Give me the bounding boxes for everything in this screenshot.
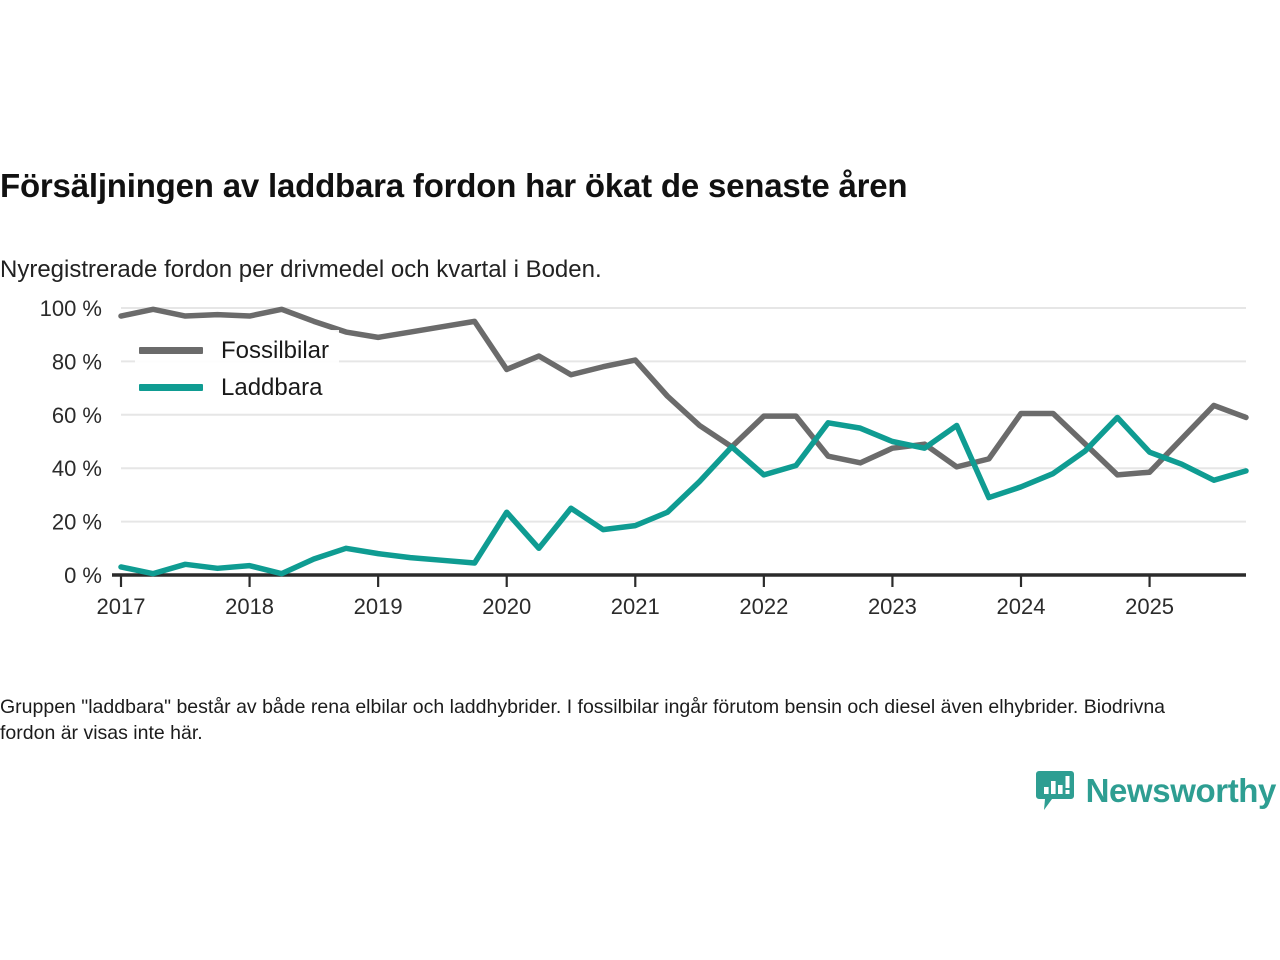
y-axis-tick-label: 20 %: [52, 510, 102, 535]
x-axis-tick-label: 2018: [225, 594, 274, 619]
x-axis-tick-label: 2022: [739, 594, 788, 619]
x-axis-tick-label: 2024: [997, 594, 1046, 619]
x-axis-tick-label: 2017: [97, 594, 146, 619]
x-axis-tick-label: 2020: [482, 594, 531, 619]
series-line-laddbara: [121, 417, 1246, 573]
bar-chart-speech-bubble-icon: [1035, 770, 1075, 812]
y-axis-tick-label: 80 %: [52, 349, 102, 374]
chart-subtitle: Nyregistrerade fordon per drivmedel och …: [0, 256, 1240, 285]
x-axis-tick-label: 2021: [611, 594, 660, 619]
page-title: Försäljningen av laddbara fordon har öka…: [0, 168, 1240, 205]
y-axis-tick-label: 60 %: [52, 403, 102, 428]
chart-legend: Fossilbilar Laddbara: [135, 330, 339, 410]
x-axis-tick-label: 2023: [868, 594, 917, 619]
chart-footnote: Gruppen "laddbara" består av både rena e…: [0, 694, 1215, 747]
legend-swatch-fossilbilar: [139, 347, 203, 354]
x-axis-tick-label: 2025: [1125, 594, 1174, 619]
y-axis-tick-label: 40 %: [52, 456, 102, 481]
legend-label-laddbara: Laddbara: [221, 374, 322, 402]
legend-label-fossilbilar: Fossilbilar: [221, 337, 329, 365]
x-axis-tick-label: 2019: [354, 594, 403, 619]
y-axis-tick-label: 100 %: [40, 296, 102, 321]
legend-item-fossilbilar[interactable]: Fossilbilar: [139, 332, 329, 369]
chart-page: Försäljningen av laddbara fordon har öka…: [0, 0, 1280, 960]
newsworthy-logo[interactable]: Newsworthy: [1035, 770, 1276, 812]
y-axis-tick-label: 0 %: [64, 563, 102, 588]
legend-item-laddbara[interactable]: Laddbara: [139, 369, 329, 406]
brand-name: Newsworthy: [1086, 772, 1276, 810]
legend-swatch-laddbara: [139, 384, 203, 391]
